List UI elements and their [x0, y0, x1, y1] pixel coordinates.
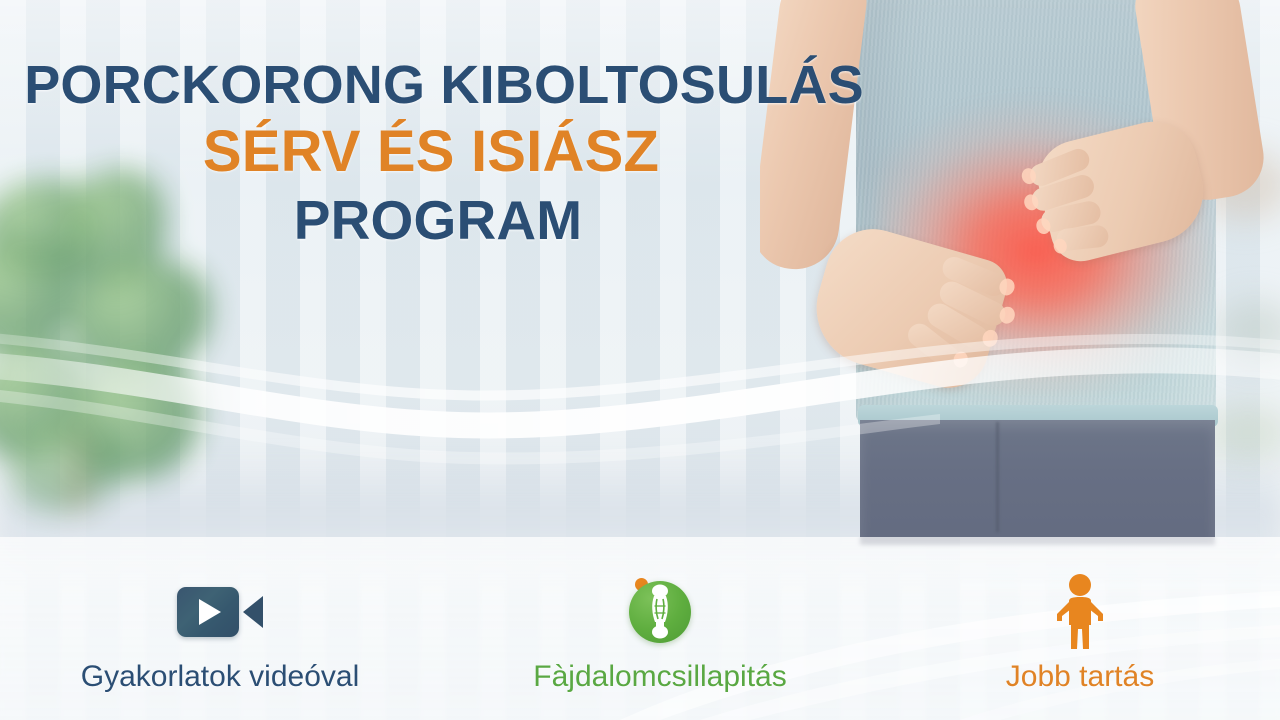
feature-row: Gyakorlatok videóval [0, 570, 1280, 694]
feature-icon-wrap [177, 570, 263, 654]
banner-canvas: PORCKORONG KIBOLTOSULÁS SÉRV ÉS ISIÁSZ P… [0, 0, 1280, 720]
feature-label-pain-relief: Fàjdalomcsillapitás [533, 660, 786, 694]
video-camera-icon [177, 587, 263, 637]
feature-label-better-posture: Jobb tartás [1006, 660, 1154, 694]
spine-glyph [643, 584, 677, 640]
headline-line-3: PROGRAM [0, 193, 880, 248]
standing-person-icon [1050, 573, 1110, 651]
feature-pain-relief[interactable]: Fàjdalomcsillapitás [440, 570, 880, 694]
feature-video-exercises[interactable]: Gyakorlatok videóval [0, 570, 440, 694]
feature-icon-wrap [1050, 570, 1110, 654]
spine-icon [629, 581, 691, 643]
feature-icon-wrap [629, 570, 691, 654]
feature-better-posture[interactable]: Jobb tartás [880, 570, 1280, 694]
feature-label-video-exercises: Gyakorlatok videóval [81, 660, 359, 694]
headline-block: PORCKORONG KIBOLTOSULÁS SÉRV ÉS ISIÁSZ P… [0, 58, 880, 248]
headline-line-1: PORCKORONG KIBOLTOSULÁS [8, 58, 880, 112]
headline-line-2: SÉRV ÉS ISIÁSZ [0, 123, 880, 181]
